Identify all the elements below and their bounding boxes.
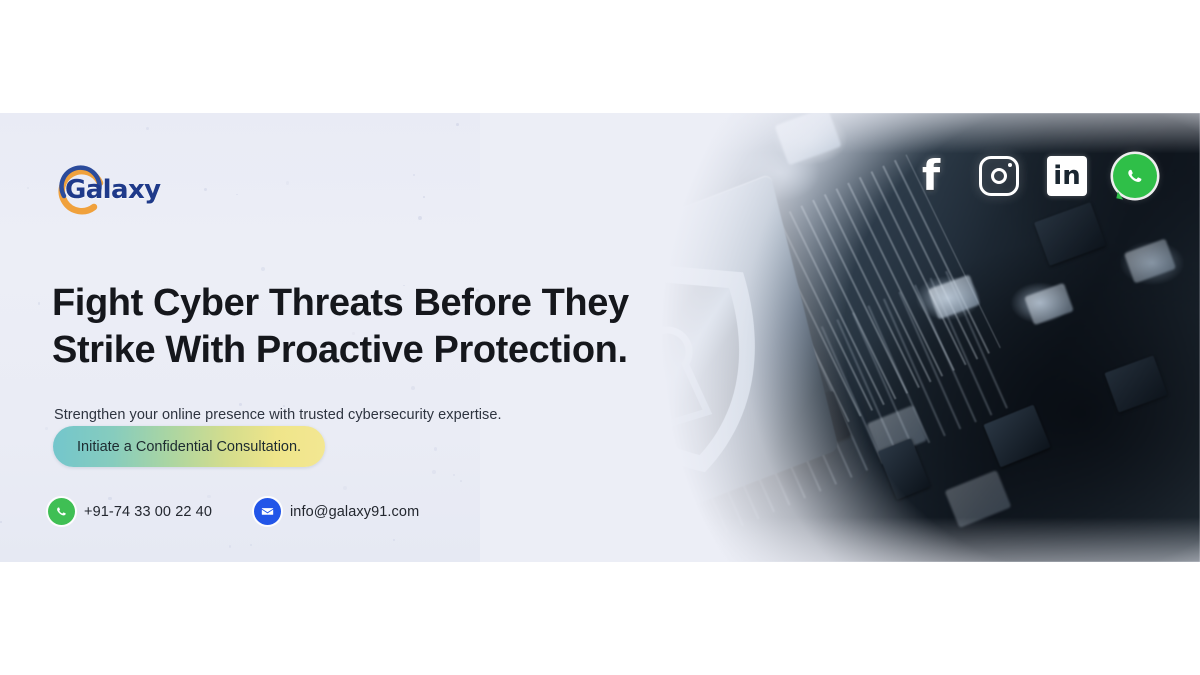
whatsapp-icon (48, 498, 75, 525)
brand-logo-text: Galaxy (65, 175, 160, 205)
hero-banner: f in (0, 113, 1200, 562)
social-link-instagram[interactable] (976, 153, 1022, 199)
page-title: Fight Cyber Threats Before They Strike W… (52, 280, 632, 374)
contact-phone[interactable]: +91-74 33 00 22 40 (48, 498, 212, 525)
subheadline: Strengthen your online presence with tru… (54, 405, 502, 425)
page-root: f in (0, 0, 1200, 675)
headline-line-1: Fight Cyber Threats Before They (52, 282, 629, 324)
headline-line-2: Strike With Proactive Protection. (52, 327, 632, 374)
social-link-facebook[interactable]: f (908, 153, 954, 199)
contact-email[interactable]: info@galaxy91.com (254, 498, 419, 525)
social-link-linkedin[interactable]: in (1044, 153, 1090, 199)
brand-logo[interactable]: Galaxy (52, 161, 172, 219)
whatsapp-icon (1113, 154, 1157, 198)
consultation-cta-label: Initiate a Confidential Consultation. (77, 439, 301, 455)
email-icon (254, 498, 281, 525)
linkedin-icon: in (1047, 156, 1087, 196)
social-links: f in (908, 153, 1158, 199)
consultation-cta-button[interactable]: Initiate a Confidential Consultation. (53, 426, 325, 467)
social-link-whatsapp[interactable] (1112, 153, 1158, 199)
contact-row: +91-74 33 00 22 40 info@galaxy91.com (48, 498, 419, 525)
instagram-icon (979, 156, 1019, 196)
banner-content: Galaxy Fight Cyber Threats Before They S… (0, 113, 640, 562)
facebook-icon: f (922, 155, 940, 197)
contact-phone-label: +91-74 33 00 22 40 (84, 504, 212, 520)
contact-email-label: info@galaxy91.com (290, 504, 419, 520)
